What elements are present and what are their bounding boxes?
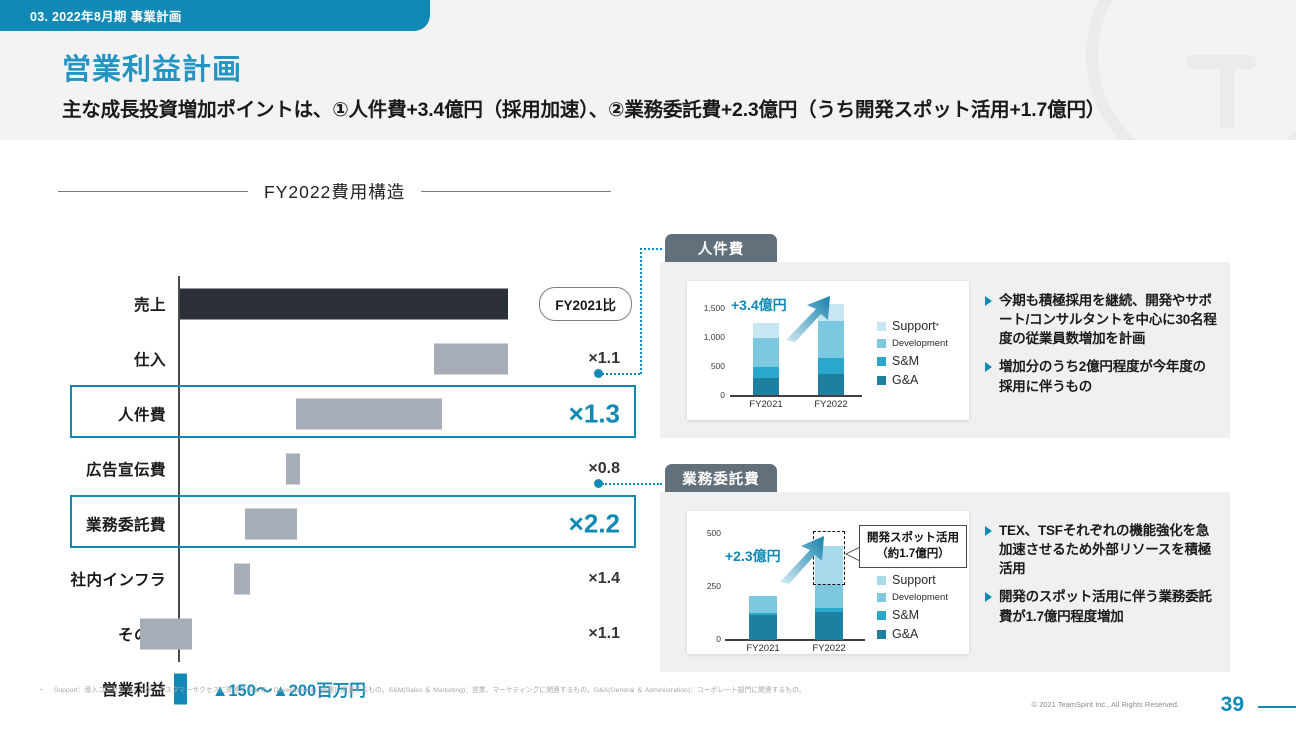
legend-label: S&M	[892, 354, 919, 368]
bullet-item: 開発のスポット活用に伴う業務委託費が1.7億円程度増加	[985, 587, 1217, 625]
panel-tag-outsourcing: 業務委託費	[665, 464, 777, 492]
bullet-text: 増加分のうち2億円程度が今年度の採用に伴うもの	[999, 357, 1217, 395]
bullet-triangle-icon	[985, 362, 992, 372]
legend-footnote-marker: *	[936, 322, 939, 331]
waterfall-title: FY2022費用構造	[248, 179, 421, 204]
waterfall-row[interactable]: 売上 FY2021比	[34, 276, 654, 331]
bullet-text: TEX、TSFそれぞれの機能強化を急加速させるため外部リソースを積極活用	[999, 521, 1217, 578]
section-tab-label: 03. 2022年8月期 事業計画	[30, 6, 182, 25]
bar-fy2021	[753, 323, 779, 395]
growth-arrow-icon	[777, 533, 835, 585]
bar-segment-ga	[749, 615, 777, 640]
connector-line-personnel-h2	[640, 248, 662, 250]
waterfall-multiplier: ×1.4	[588, 570, 620, 588]
legend-swatch-development	[877, 339, 886, 348]
personnel-mini-chart: 1,500 1,000 500 0	[687, 281, 969, 420]
page-title: 営業利益計画	[62, 46, 242, 88]
personnel-legend: Support * Development S&M G&A	[877, 319, 948, 392]
bar-fy2021	[749, 596, 777, 640]
bar-segment-support	[753, 323, 779, 338]
bar-segment-sm	[753, 367, 779, 377]
waterfall-row-label: 売上	[34, 276, 166, 331]
bullet-text: 今期も積極採用を継続、開発やサポート/コンサルタントを中心に30名程度の従業員数…	[999, 291, 1217, 348]
waterfall-row-label: 仕入	[34, 331, 166, 386]
waterfall-multiplier: ×1.1	[588, 350, 620, 368]
waterfall-bar	[140, 618, 192, 649]
footnote-text: Support：導入コンサルティング、カスタマーサクセスに関連するもの。Deve…	[54, 686, 806, 697]
outsourcing-bullets: TEX、TSFそれぞれの機能強化を急加速させるため外部リソースを積極活用 開発の…	[985, 521, 1217, 635]
legend-swatch-ga	[877, 376, 886, 385]
waterfall-row[interactable]: その他 ×1.1	[34, 606, 654, 661]
bullet-triangle-icon	[985, 592, 992, 602]
outsourcing-mini-chart: 500 250 0	[687, 511, 969, 654]
waterfall-row-label: 社内インフラ	[34, 551, 166, 606]
bar-segment-ga	[753, 378, 779, 395]
bullet-item: TEX、TSFそれぞれの機能強化を急加速させるため外部リソースを積極活用	[985, 521, 1217, 578]
legend-item[interactable]: S&M	[877, 354, 948, 368]
bullet-text: 開発のスポット活用に伴う業務委託費が1.7億円程度増加	[999, 587, 1217, 625]
waterfall-row-highlighted[interactable]: 人件費 ×1.3	[34, 386, 654, 441]
connector-line-personnel-v	[640, 248, 642, 374]
waterfall-multiplier: ×0.8	[588, 460, 620, 478]
legend-label: Support	[892, 319, 936, 333]
bar-segment-sm	[749, 613, 777, 615]
waterfall-row[interactable]: 社内インフラ ×1.4	[34, 551, 654, 606]
growth-arrow-icon	[783, 293, 843, 343]
y-tick: 0	[691, 634, 721, 644]
x-label: FY2022	[812, 643, 845, 654]
x-axis-line	[730, 395, 862, 397]
copyright: © 2021 TeamSpirit Inc., All Rights Reser…	[1031, 700, 1179, 709]
callout-tail-fill	[847, 548, 859, 560]
page-number: 39	[1221, 693, 1244, 717]
waterfall-row[interactable]: 仕入 ×1.1	[34, 331, 654, 386]
y-tick: 500	[691, 528, 721, 538]
personnel-bullets: 今期も積極採用を継続、開発やサポート/コンサルタントを中心に30名程度の従業員数…	[985, 291, 1217, 405]
legend-item[interactable]: Support	[877, 573, 948, 587]
waterfall-header: FY2022費用構造	[34, 172, 654, 210]
delta-annotation: +3.4億円	[731, 295, 787, 315]
waterfall-bar	[234, 563, 250, 594]
section-tab[interactable]: 03. 2022年8月期 事業計画	[0, 0, 430, 31]
y-tick: 500	[691, 361, 725, 371]
page-subtitle: 主な成長投資増加ポイントは、①人件費+3.4億円（採用加速）、②業務委託費+2.…	[62, 93, 1105, 122]
rule-left	[58, 191, 248, 192]
waterfall-plot: 売上 FY2021比 仕入 ×1.1 人件費 ×1.3 広告宣伝費 ×0.8	[34, 222, 654, 662]
delta-annotation: +2.3億円	[725, 546, 781, 566]
bar-segment-development	[815, 585, 843, 607]
y-tick: 1,500	[691, 303, 725, 313]
footnote-marker: ・	[38, 686, 45, 697]
bar-segment-ga	[815, 612, 843, 640]
legend-item[interactable]: Development	[877, 338, 948, 349]
x-label: FY2021	[749, 399, 782, 410]
rule-right	[421, 191, 611, 192]
legend-swatch-sm	[877, 357, 886, 366]
legend-item[interactable]: Support *	[877, 319, 948, 333]
outsourcing-legend: Support Development S&M G&A	[877, 573, 948, 646]
panel-outsourcing: 500 250 0	[660, 492, 1230, 672]
connector-line-personnel-h	[602, 373, 640, 375]
watermark-stem-icon	[1220, 68, 1234, 128]
waterfall-multiplier-highlighted: ×1.3	[569, 398, 620, 429]
legend-label: S&M	[892, 608, 919, 622]
page-rule	[1258, 706, 1296, 708]
legend-swatch-ga	[877, 630, 886, 639]
legend-item[interactable]: Development	[877, 592, 948, 603]
callout-line-2: （約1.7億円）	[867, 547, 959, 563]
y-tick: 1,000	[691, 332, 725, 342]
legend-item[interactable]: G&A	[877, 627, 948, 641]
legend-label: G&A	[892, 373, 918, 387]
waterfall-multiplier-highlighted: ×2.2	[569, 508, 620, 539]
waterfall-bar	[296, 398, 442, 429]
waterfall-row-label: 広告宣伝費	[34, 441, 166, 496]
panel-personnel: 1,500 1,000 500 0	[660, 262, 1230, 438]
x-label: FY2022	[814, 399, 847, 410]
bar-segment-ga	[818, 374, 844, 395]
outsourcing-chart-card: 500 250 0	[687, 511, 969, 654]
footnote: ・ Support：導入コンサルティング、カスタマーサクセスに関連するもの。De…	[38, 686, 938, 697]
bar-segment-development	[749, 596, 777, 613]
legend-label: Development	[892, 338, 948, 349]
legend-swatch-development	[877, 593, 886, 602]
waterfall-row-label: 業務委託費	[34, 496, 166, 551]
connector-line-outsourcing-h	[602, 483, 662, 485]
legend-label: Development	[892, 592, 948, 603]
watermark-circle-icon	[1086, 0, 1296, 140]
y-tick: 0	[691, 390, 725, 400]
spot-usage-callout: 開発スポット活用 （約1.7億円）	[859, 525, 967, 568]
waterfall-bar	[245, 508, 297, 539]
panel-tag-personnel: 人件費	[665, 234, 777, 262]
personnel-chart-card: 1,500 1,000 500 0	[687, 281, 969, 420]
y-tick: 250	[691, 581, 721, 591]
panel-tag-label: 業務委託費	[682, 468, 760, 489]
bar-segment-development	[753, 338, 779, 368]
waterfall-chart: FY2022費用構造 売上 FY2021比 仕入 ×1.1 人件費	[34, 172, 654, 672]
bar-segment-sm	[818, 358, 844, 373]
watermark-shape-icon	[1186, 55, 1256, 69]
waterfall-row-highlighted[interactable]: 業務委託費 ×2.2	[34, 496, 654, 551]
x-label: FY2021	[746, 643, 779, 654]
legend-label: Support	[892, 573, 936, 587]
waterfall-row-label: 人件費	[34, 386, 166, 441]
legend-label: G&A	[892, 627, 918, 641]
bullet-triangle-icon	[985, 526, 992, 536]
legend-swatch-support	[877, 322, 886, 331]
waterfall-multiplier: ×1.1	[588, 625, 620, 643]
fy-compare-pill: FY2021比	[539, 287, 632, 321]
legend-item[interactable]: S&M	[877, 608, 948, 622]
callout-line-1: 開発スポット活用	[867, 531, 959, 547]
legend-swatch-support	[877, 576, 886, 585]
panel-tag-label: 人件費	[698, 238, 745, 259]
waterfall-bar	[180, 288, 508, 319]
waterfall-bar	[286, 453, 300, 484]
legend-swatch-sm	[877, 611, 886, 620]
bullet-item: 増加分のうち2億円程度が今年度の採用に伴うもの	[985, 357, 1217, 395]
bar-segment-sm	[815, 608, 843, 613]
slide: 03. 2022年8月期 事業計画 営業利益計画 主な成長投資増加ポイントは、①…	[0, 0, 1296, 729]
bullet-item: 今期も積極採用を継続、開発やサポート/コンサルタントを中心に30名程度の従業員数…	[985, 291, 1217, 348]
waterfall-row[interactable]: 広告宣伝費 ×0.8	[34, 441, 654, 496]
legend-item[interactable]: G&A	[877, 373, 948, 387]
x-axis-line	[725, 639, 865, 641]
bullet-triangle-icon	[985, 296, 992, 306]
waterfall-bar	[434, 343, 508, 374]
